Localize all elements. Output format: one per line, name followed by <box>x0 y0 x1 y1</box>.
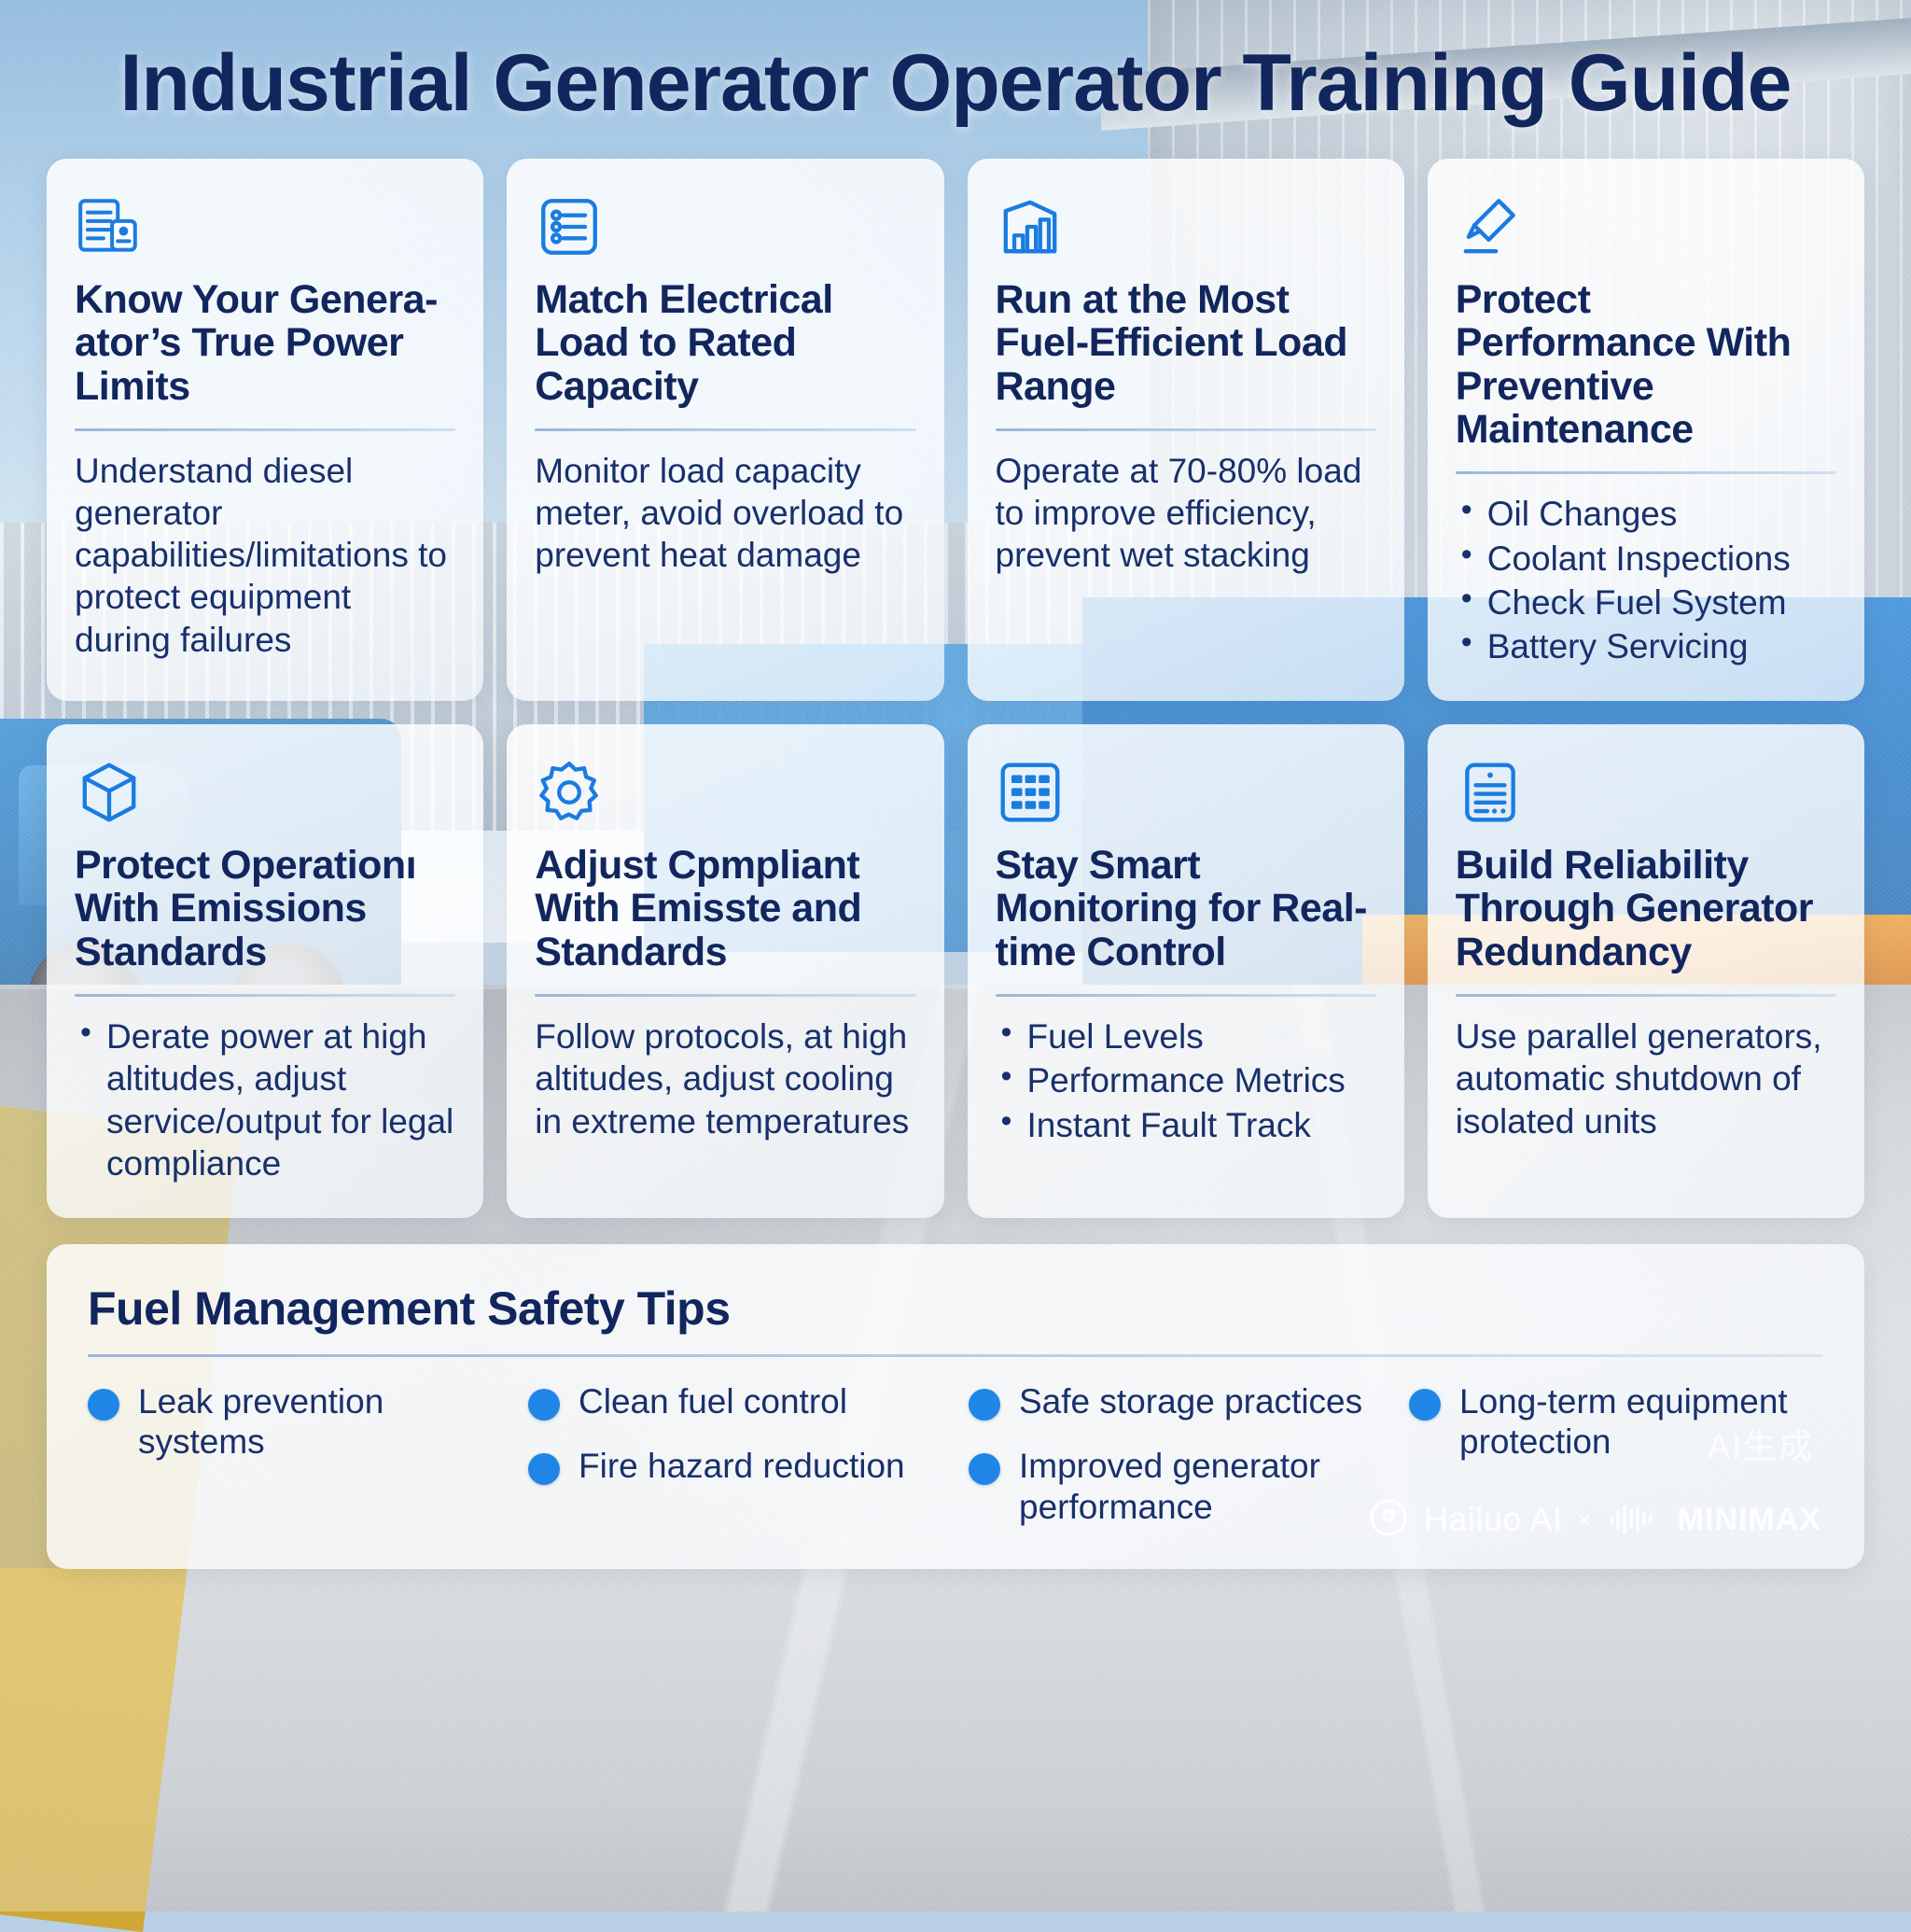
card-title: Build Reliability Through Generator Redu… <box>1456 844 1836 973</box>
list-item: Performance Metrics <box>996 1059 1376 1101</box>
card-adjust-compliant[interactable]: Adjust Cpmpliant With Emisste and Standa… <box>507 724 943 1218</box>
certificate-document-icon <box>1456 758 1836 831</box>
card-know-power-limits[interactable]: Know Your Genera-ator’s True Power Limit… <box>47 159 483 701</box>
list-item: Battery Servicing <box>1456 625 1836 667</box>
card-title: Protect Performance With Preventive Main… <box>1456 278 1836 452</box>
card-body: Use parallel generators, automatic shutd… <box>1456 1015 1836 1141</box>
card-title: Stay Smart Monitoring for Real-time Cont… <box>996 844 1376 973</box>
card-body: Oil Changes Coolant Inspections Check Fu… <box>1456 493 1836 669</box>
tip-label: Fire hazard reduction <box>579 1446 905 1487</box>
tip-label: Improved generator performance <box>1019 1446 1383 1527</box>
list-item: Check Fuel System <box>1456 581 1836 623</box>
separator-label: × <box>1577 1505 1591 1534</box>
card-title: Adjust Cpmpliant With Emisste and Standa… <box>535 844 915 973</box>
minimax-label: MINIMAX <box>1678 1502 1821 1538</box>
list-item: Derate power at high altitudes, adjust s… <box>75 1015 455 1184</box>
cube-box-icon <box>75 758 455 831</box>
card-title: Match Electrical Load to Rated Capacity <box>535 278 915 408</box>
tips-column-2: Clean fuel control Fire hazard reduction <box>528 1381 942 1528</box>
card-divider <box>75 994 455 997</box>
maintenance-list: Oil Changes Coolant Inspections Check Fu… <box>1456 493 1836 667</box>
card-divider <box>75 428 455 431</box>
bullet-dot-icon <box>1409 1389 1441 1421</box>
card-preventive-maintenance[interactable]: Protect Performance With Preventive Main… <box>1428 159 1864 701</box>
list-item: Coolant Inspections <box>1456 538 1836 580</box>
list-item[interactable]: Fire hazard reduction <box>528 1446 942 1487</box>
card-fuel-efficient-load-range[interactable]: Run at the Most Fuel-Efficient Load Rang… <box>968 159 1404 701</box>
bullet-dot-icon <box>88 1389 119 1421</box>
monitoring-list: Fuel Levels Performance Metrics Instant … <box>996 1015 1376 1145</box>
bar-chart-icon <box>996 192 1376 265</box>
bullet-dot-icon <box>969 1389 1000 1421</box>
checklist-icon <box>535 192 915 265</box>
tips-column-3: Safe storage practices Improved generato… <box>969 1381 1383 1528</box>
tip-label: Leak prevention systems <box>138 1381 502 1463</box>
tips-grid: Know Your Genera-ator’s True Power Limit… <box>47 159 1864 1218</box>
list-item: Oil Changes <box>1456 493 1836 535</box>
card-body: Follow protocols, at high altitudes, adj… <box>535 1015 915 1141</box>
bottom-divider <box>88 1354 1823 1357</box>
card-divider <box>535 428 915 431</box>
document-report-icon <box>75 192 455 265</box>
card-divider <box>535 994 915 997</box>
card-divider <box>996 428 1376 431</box>
page-title: Industrial Generator Operator Training G… <box>47 0 1864 125</box>
card-match-electrical-load[interactable]: Match Electrical Load to Rated Capacity … <box>507 159 943 701</box>
card-generator-redundancy[interactable]: Build Reliability Through Generator Redu… <box>1428 724 1864 1218</box>
card-title: Know Your Genera-ator’s True Power Limit… <box>75 278 455 408</box>
list-item[interactable]: Clean fuel control <box>528 1381 942 1422</box>
card-body: Operate at 70-80% load to improve effici… <box>996 450 1376 576</box>
list-item[interactable]: Improved generator performance <box>969 1446 1383 1527</box>
card-body: Understand diesel generator capabilities… <box>75 450 455 661</box>
list-item: Fuel Levels <box>996 1015 1376 1057</box>
card-title: Protect Operationı With Emissions Standa… <box>75 844 455 973</box>
tips-column-1: Leak prevention systems <box>88 1381 502 1528</box>
card-smart-monitoring[interactable]: Stay Smart Monitoring for Real-time Cont… <box>968 724 1404 1218</box>
gear-icon <box>535 758 915 831</box>
fuel-safety-panel: Fuel Management Safety Tips Leak prevent… <box>47 1244 1864 1569</box>
ai-generated-watermark: AI生成 <box>1708 1420 1814 1468</box>
card-divider <box>996 994 1376 997</box>
bullet-dot-icon <box>528 1453 560 1485</box>
dashboard-grid-icon <box>996 758 1376 831</box>
emissions-list: Derate power at high altitudes, adjust s… <box>75 1015 455 1184</box>
list-item[interactable]: Safe storage practices <box>969 1381 1383 1422</box>
card-divider <box>1456 994 1836 997</box>
tip-label: Clean fuel control <box>579 1381 847 1422</box>
waveform-icon <box>1607 1499 1663 1541</box>
hailuo-logo-icon <box>1368 1497 1409 1543</box>
bullet-dot-icon <box>528 1389 560 1421</box>
list-item: Instant Fault Track <box>996 1104 1376 1146</box>
wrench-tool-icon <box>1456 192 1836 265</box>
bottom-panel-title: Fuel Management Safety Tips <box>88 1281 1823 1336</box>
card-body: Fuel Levels Performance Metrics Instant … <box>996 1015 1376 1147</box>
tip-label: Safe storage practices <box>1019 1381 1362 1422</box>
card-body: Monitor load capacity meter, avoid overl… <box>535 450 915 576</box>
list-item[interactable]: Leak prevention systems <box>88 1381 502 1463</box>
hailuo-label: Hailuo AI <box>1424 1500 1563 1539</box>
card-title: Run at the Most Fuel-Efficient Load Rang… <box>996 278 1376 408</box>
card-divider <box>1456 471 1836 474</box>
bullet-dot-icon <box>969 1453 1000 1485</box>
card-body: Derate power at high altitudes, adjust s… <box>75 1015 455 1186</box>
card-emissions-standards[interactable]: Protect Operationı With Emissions Standa… <box>47 724 483 1218</box>
brand-watermark: Hailuo AI × MINIMAX <box>1368 1497 1821 1543</box>
